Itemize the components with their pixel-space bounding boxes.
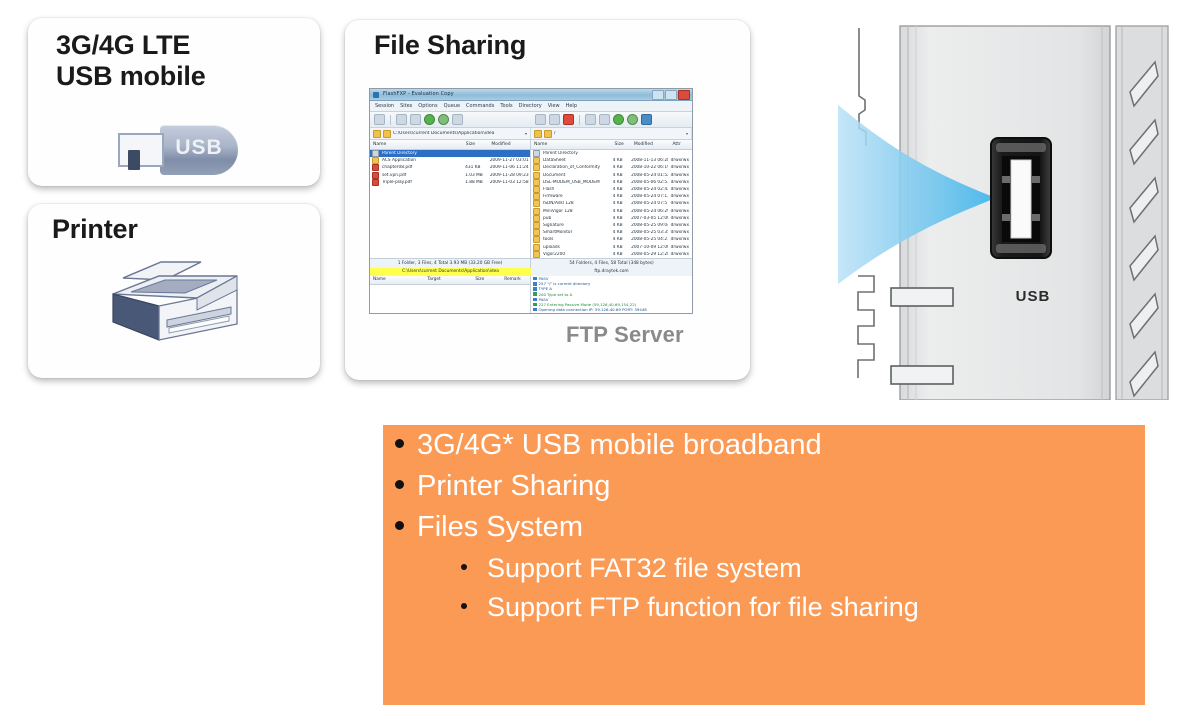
table-row[interactable]: set.vpn.pdf1.03 MB2009-11-28 09:23 AM — [370, 172, 530, 179]
chevron-down-icon[interactable]: ▾ — [686, 131, 688, 136]
cell-name: Triple-play.pdf — [379, 180, 462, 185]
cell-modified: 2007-03-05 12:00 AM — [628, 216, 668, 221]
bullet-text: Files System — [417, 507, 583, 548]
local-path-bar[interactable]: C:\Users\current Documents\Application\i… — [370, 128, 531, 139]
cell-name: pub — [540, 216, 610, 221]
bullet-dot-icon — [395, 480, 404, 489]
transfer-icon[interactable] — [452, 114, 463, 125]
folder-icon — [533, 164, 540, 171]
cell-size: 4 KB — [610, 165, 628, 170]
cell-size: 4 KB — [610, 187, 628, 192]
log-line: LIST -al — [531, 312, 692, 314]
maximize-icon[interactable] — [665, 90, 677, 100]
menu-directory[interactable]: Directory — [519, 103, 542, 109]
cell-modified: 2009-11-03 12:58 PM — [487, 180, 530, 185]
cell-modified: 2008-10-22 06:19 AM — [628, 165, 668, 170]
table-row[interactable]: Parent Directory — [370, 150, 530, 157]
bullet-text: Support FAT32 file system — [487, 549, 802, 588]
qcol-size[interactable]: Size — [472, 276, 501, 284]
cell-attr: drwxrwx — [668, 194, 692, 199]
cell-attr: drwxrwx — [668, 252, 692, 257]
cell-name: chapter08.pdf — [379, 165, 462, 170]
table-row[interactable]: Vigor22004 KB2008-05-29 12:28 AMdrwxrwx — [531, 251, 692, 258]
cell-size: 4 KB — [610, 230, 628, 235]
cell-name: Parent Directory — [379, 151, 462, 156]
cell-size: 4 KB — [610, 223, 628, 228]
menu-queue[interactable]: Queue — [444, 103, 460, 109]
file-type-icon — [372, 164, 379, 171]
cell-size: 4 KB — [610, 180, 628, 185]
folder-icon — [533, 172, 540, 179]
local-status-text: 1 Folder, 3 Files, 4 Total 3.93 MB (33.2… — [370, 259, 531, 268]
chevron-down-icon[interactable]: ▾ — [525, 131, 527, 136]
bullet-dot-icon — [395, 521, 404, 530]
folder-icon — [533, 244, 540, 251]
app-icon — [373, 92, 379, 98]
table-row[interactable]: chapter08.pdf431 KB2009-11-06 11:24 AM — [370, 164, 530, 171]
table-row[interactable]: ISDN/Adsl 1284 KB2008-05-24 07:57 PMdrwx… — [531, 200, 692, 207]
bullet-dot-icon — [461, 603, 467, 609]
toolbar-separator — [390, 115, 391, 125]
connect-icon[interactable] — [424, 114, 435, 125]
cell-size: 4 KB — [610, 237, 628, 242]
browse-icon[interactable] — [374, 114, 385, 125]
card-file-sharing-title: File Sharing — [374, 30, 526, 61]
cell-size: 4 KB — [610, 209, 628, 214]
folder-icon — [533, 186, 540, 193]
log-bullet-icon — [533, 292, 537, 296]
cell-size: 431 KB — [462, 165, 487, 170]
table-row[interactable]: Flash4 KB2008-05-24 02:42 PMdrwxrwx — [531, 186, 692, 193]
cell-modified: 2008-05-24 02:42 PM — [628, 187, 668, 192]
cell-modified: 2008-05-24 07:13 PM — [628, 194, 668, 199]
local-path-status: C:\Users\current Documents\Application\i… — [370, 268, 531, 276]
log-text: Opening data connection IP: 59.126.40.69… — [539, 307, 647, 312]
file-type-icon — [372, 179, 379, 186]
log-text: LIST -al — [539, 312, 553, 314]
queue-pane[interactable]: Name Target Size Remark — [370, 276, 531, 314]
cell-name: DSL-MODEM_USB_MODEM — [540, 180, 610, 185]
table-row[interactable]: Signature4 KB2008-05-25 09:04 AMdrwxrwx — [531, 222, 692, 229]
ftp-status-counts: 1 Folder, 3 Files, 4 Total 3.93 MB (33.2… — [370, 258, 692, 268]
log-bullet-icon — [533, 277, 537, 281]
ftp-window-title: FlashFXP - Evaluation Copy — [383, 91, 454, 97]
cell-name: set.vpn.pdf — [379, 173, 462, 178]
cell-size: 4 KB — [610, 173, 628, 178]
bullet-item-main: Files System — [383, 507, 1145, 548]
menu-commands[interactable]: Commands — [466, 103, 494, 109]
cell-size: 4 KB — [610, 252, 628, 257]
log-bullet-icon — [533, 303, 537, 307]
delete-icon[interactable] — [563, 114, 574, 125]
folder-icon — [533, 208, 540, 215]
folder-icon — [533, 150, 540, 157]
remote-file-pane[interactable]: Name Size Modified Attr Parent Directory… — [531, 140, 692, 258]
ftp-menubar[interactable]: Session Sites Options Queue Commands Too… — [370, 101, 692, 112]
cell-attr: drwxrwx — [668, 209, 692, 214]
col-modified[interactable]: Modified — [631, 140, 670, 149]
router-device-illustration — [838, 0, 1180, 400]
table-row[interactable]: DSL-MODEM_USB_MODEM4 KB2008-05-06 02:53 … — [531, 179, 692, 186]
connect-icon[interactable] — [613, 114, 624, 125]
cell-modified: 2008-05-25 03:35 PM — [628, 230, 668, 235]
bookmark-icon[interactable] — [534, 130, 542, 138]
cell-modified: 2008-05-25 04:21 PM — [628, 237, 668, 242]
folder-icon — [533, 236, 540, 243]
col-attr[interactable]: Attr — [669, 140, 692, 149]
ftp-log-pane[interactable]: PASV257 "/" is current directoryTYPE A20… — [531, 276, 692, 314]
usb-drive-tongue — [128, 150, 140, 170]
cell-size: 4 KB — [610, 158, 628, 163]
menu-tools[interactable]: Tools — [500, 103, 512, 109]
sync-icon[interactable] — [641, 114, 652, 125]
cell-name: Vigor2200 — [540, 252, 610, 257]
table-row[interactable]: DataSheet4 KB2008-11-13 06:28 AMdrwxrwx — [531, 157, 692, 164]
table-row[interactable]: SmartMonitor4 KB2008-05-25 03:35 PMdrwxr… — [531, 229, 692, 236]
col-name[interactable]: Name — [370, 140, 463, 149]
cell-size: 4 KB — [610, 216, 628, 221]
bullet-text: Printer Sharing — [417, 466, 610, 507]
folder-icon — [533, 222, 540, 229]
menu-session[interactable]: Session — [375, 103, 394, 109]
bullet-dot-icon — [461, 564, 467, 570]
rename-icon[interactable] — [549, 114, 560, 125]
cell-size: 4 KB — [610, 201, 628, 206]
table-row[interactable]: Firmware4 KB2008-05-24 07:13 PMdrwxrwx — [531, 193, 692, 200]
queue-columns: Name Target Size Remark — [370, 276, 530, 285]
local-toolbar — [370, 112, 531, 127]
cell-modified: 2008-05-24 07:57 PM — [628, 201, 668, 206]
log-bullet-icon — [533, 313, 537, 314]
local-columns: Name Size Modified — [370, 140, 530, 150]
cell-name: Flash — [540, 187, 610, 192]
cell-attr: drwxrwx — [668, 180, 692, 185]
folder-icon — [533, 193, 540, 200]
cell-modified: 2008-05-24 06:29 PM — [628, 209, 668, 214]
cell-modified: 2009-11-28 09:23 AM — [487, 173, 530, 178]
local-path-text[interactable]: C:\Users\current Documents\Application\i… — [393, 131, 523, 136]
menu-sites[interactable]: Sites — [400, 103, 412, 109]
edit-icon[interactable] — [535, 114, 546, 125]
cell-name: Firmware — [540, 194, 610, 199]
cell-name: tools — [540, 237, 610, 242]
cell-modified: 2008-05-29 12:28 AM — [628, 252, 668, 257]
card-printer-title: Printer — [52, 214, 138, 245]
cell-name: Declaration_of_Conformity — [540, 165, 610, 170]
cell-size: 1.88 MB — [462, 180, 487, 185]
cell-size: 4 KB — [610, 194, 628, 199]
qcol-name[interactable]: Name — [370, 276, 424, 284]
refresh-icon[interactable] — [438, 114, 449, 125]
list-view-icon[interactable] — [585, 114, 596, 125]
bullet-text: 3G/4G* USB mobile broadband — [417, 425, 822, 466]
add-bookmark-icon[interactable] — [383, 130, 391, 138]
cell-name: ISDN/Adsl 128 — [540, 201, 610, 206]
add-bookmark-icon[interactable] — [544, 130, 552, 138]
remote-path-text[interactable]: / — [554, 131, 684, 136]
remote-host-status: ftp.draytek.com — [531, 268, 692, 276]
remote-status-text: 54 Folders, 4 Files, 58 Total (348 bytes… — [531, 259, 692, 268]
cell-name: uploads — [540, 245, 610, 250]
remote-columns: Name Size Modified Attr — [531, 140, 692, 150]
ftp-bottom-area: Name Target Size Remark PASV257 "/" is c… — [370, 276, 692, 314]
cell-modified: 2007-10-09 12:00 AM — [628, 245, 668, 250]
toolbar-separator — [579, 115, 580, 125]
table-row[interactable]: MiniVigor 1284 KB2008-05-24 06:29 PMdrwx… — [531, 208, 692, 215]
menu-help[interactable]: Help — [566, 103, 577, 109]
cell-size: 1.03 MB — [462, 173, 487, 178]
remote-toolbar — [531, 112, 692, 127]
col-size[interactable]: Size — [463, 140, 489, 149]
col-size[interactable]: Size — [612, 140, 631, 149]
cell-attr: drwxrwx — [668, 216, 692, 221]
cell-modified: 2008-11-13 06:28 AM — [628, 158, 668, 163]
ftp-window-titlebar: FlashFXP - Evaluation Copy — [370, 89, 692, 101]
menu-view[interactable]: View — [548, 103, 560, 109]
table-row[interactable]: tools4 KB2008-05-25 04:21 PMdrwxrwx — [531, 236, 692, 243]
printer-icon — [105, 250, 250, 350]
table-row[interactable]: ACS Application2009-11-27 03:01 PM — [370, 157, 530, 164]
cell-name: Signature — [540, 223, 610, 228]
ftp-server-caption: FTP Server — [566, 322, 684, 348]
bullet-text: Support FTP function for file sharing — [487, 588, 919, 627]
list-view-icon[interactable] — [396, 114, 407, 125]
folder-icon — [533, 179, 540, 186]
cell-attr: drwxrwx — [668, 230, 692, 235]
usb-flash-drive-icon: USB — [118, 125, 238, 175]
sort-icon[interactable] — [410, 114, 421, 125]
cell-attr: drwxrwx — [668, 165, 692, 170]
file-type-icon — [372, 150, 379, 157]
cell-name: SmartMonitor — [540, 230, 610, 235]
cell-attr: drwxrwx — [668, 201, 692, 206]
log-bullet-icon — [533, 298, 537, 302]
ftp-toolbar — [370, 112, 692, 128]
file-type-icon — [372, 172, 379, 179]
table-row[interactable]: Triple-play.pdf1.88 MB2009-11-03 12:58 P… — [370, 179, 530, 186]
local-file-pane[interactable]: Name Size Modified Parent DirectoryACS A… — [370, 140, 531, 258]
cell-modified: 2008-05-24 01:52 PM — [628, 173, 668, 178]
folder-icon — [533, 215, 540, 222]
ftp-path-bars: C:\Users\current Documents\Application\i… — [370, 128, 692, 140]
window-controls — [652, 90, 690, 100]
remote-file-list[interactable]: Parent DirectoryDataSheet4 KB2008-11-13 … — [531, 150, 692, 258]
bullet-item-sub: Support FAT32 file system — [383, 549, 1145, 588]
log-bullet-icon — [533, 308, 537, 312]
bullet-item-main: Printer Sharing — [383, 466, 1145, 507]
table-row[interactable]: Declaration_of_Conformity4 KB2008-10-22 … — [531, 164, 692, 171]
folder-icon — [533, 251, 540, 258]
folder-icon — [533, 229, 540, 236]
cell-modified: 2008-05-25 09:04 AM — [628, 223, 668, 228]
usb-drive-connector — [118, 133, 164, 167]
sort-icon[interactable] — [599, 114, 610, 125]
cell-name: ACS Application — [379, 158, 462, 163]
cell-attr: drwxrwx — [668, 245, 692, 250]
cell-name: Parent Directory — [540, 151, 610, 156]
table-row[interactable]: pub4 KB2007-03-05 12:00 AMdrwxrwx — [531, 215, 692, 222]
table-row[interactable]: Document4 KB2008-05-24 01:52 PMdrwxrwx — [531, 172, 692, 179]
cell-attr: drwxrwx — [668, 237, 692, 242]
ftp-client-screenshot: FlashFXP - Evaluation Copy Session Sites… — [369, 88, 693, 314]
usb-drive-label: USB — [168, 136, 230, 160]
cell-name: DataSheet — [540, 158, 610, 163]
col-name[interactable]: Name — [531, 140, 612, 149]
qcol-remark[interactable]: Remark — [501, 276, 530, 284]
bullet-list: 3G/4G* USB mobile broadbandPrinter Shari… — [383, 425, 1145, 627]
cell-attr: drwxrwx — [668, 223, 692, 228]
folder-icon — [533, 200, 540, 207]
local-file-list[interactable]: Parent DirectoryACS Application2009-11-2… — [370, 150, 530, 186]
refresh-icon[interactable] — [627, 114, 638, 125]
folder-icon — [533, 157, 540, 164]
close-icon[interactable] — [678, 90, 690, 100]
bullet-item-main: 3G/4G* USB mobile broadband — [383, 425, 1145, 466]
cell-size: 4 KB — [610, 245, 628, 250]
cell-attr: drwxrwx — [668, 187, 692, 192]
card-3g4g-title: 3G/4G LTE USB mobile — [56, 30, 206, 92]
log-bullet-icon — [533, 282, 537, 286]
log-bullet-icon — [533, 287, 537, 291]
cell-attr: drwxrwx — [668, 158, 692, 163]
cell-modified: 2009-11-27 03:01 PM — [487, 158, 530, 163]
cell-attr: drwxrwx — [668, 173, 692, 178]
usb-port-label: USB — [993, 288, 1073, 305]
feature-bullets-box: 3G/4G* USB mobile broadbandPrinter Shari… — [383, 425, 1145, 705]
minimize-icon[interactable] — [652, 90, 664, 100]
ftp-file-panes: Name Size Modified Parent DirectoryACS A… — [370, 140, 692, 258]
qcol-target[interactable]: Target — [424, 276, 472, 284]
ftp-status-paths: C:\Users\current Documents\Application\i… — [370, 268, 692, 276]
col-modified[interactable]: Modified — [488, 140, 530, 149]
cell-name: MiniVigor 128 — [540, 209, 610, 214]
menu-options[interactable]: Options — [418, 103, 437, 109]
table-row[interactable]: Parent Directory — [531, 150, 692, 157]
bullet-dot-icon — [395, 439, 404, 448]
cell-modified: 2009-11-06 11:24 AM — [487, 165, 530, 170]
cell-modified: 2008-05-06 02:53 PM — [628, 180, 668, 185]
remote-path-bar[interactable]: / ▾ — [531, 128, 692, 139]
table-row[interactable]: uploads4 KB2007-10-09 12:00 AMdrwxrwx — [531, 243, 692, 250]
bookmark-icon[interactable] — [373, 130, 381, 138]
bullet-item-sub: Support FTP function for file sharing — [383, 588, 1145, 627]
usb-port — [991, 138, 1051, 258]
file-type-icon — [372, 157, 379, 164]
cell-name: Document — [540, 173, 610, 178]
